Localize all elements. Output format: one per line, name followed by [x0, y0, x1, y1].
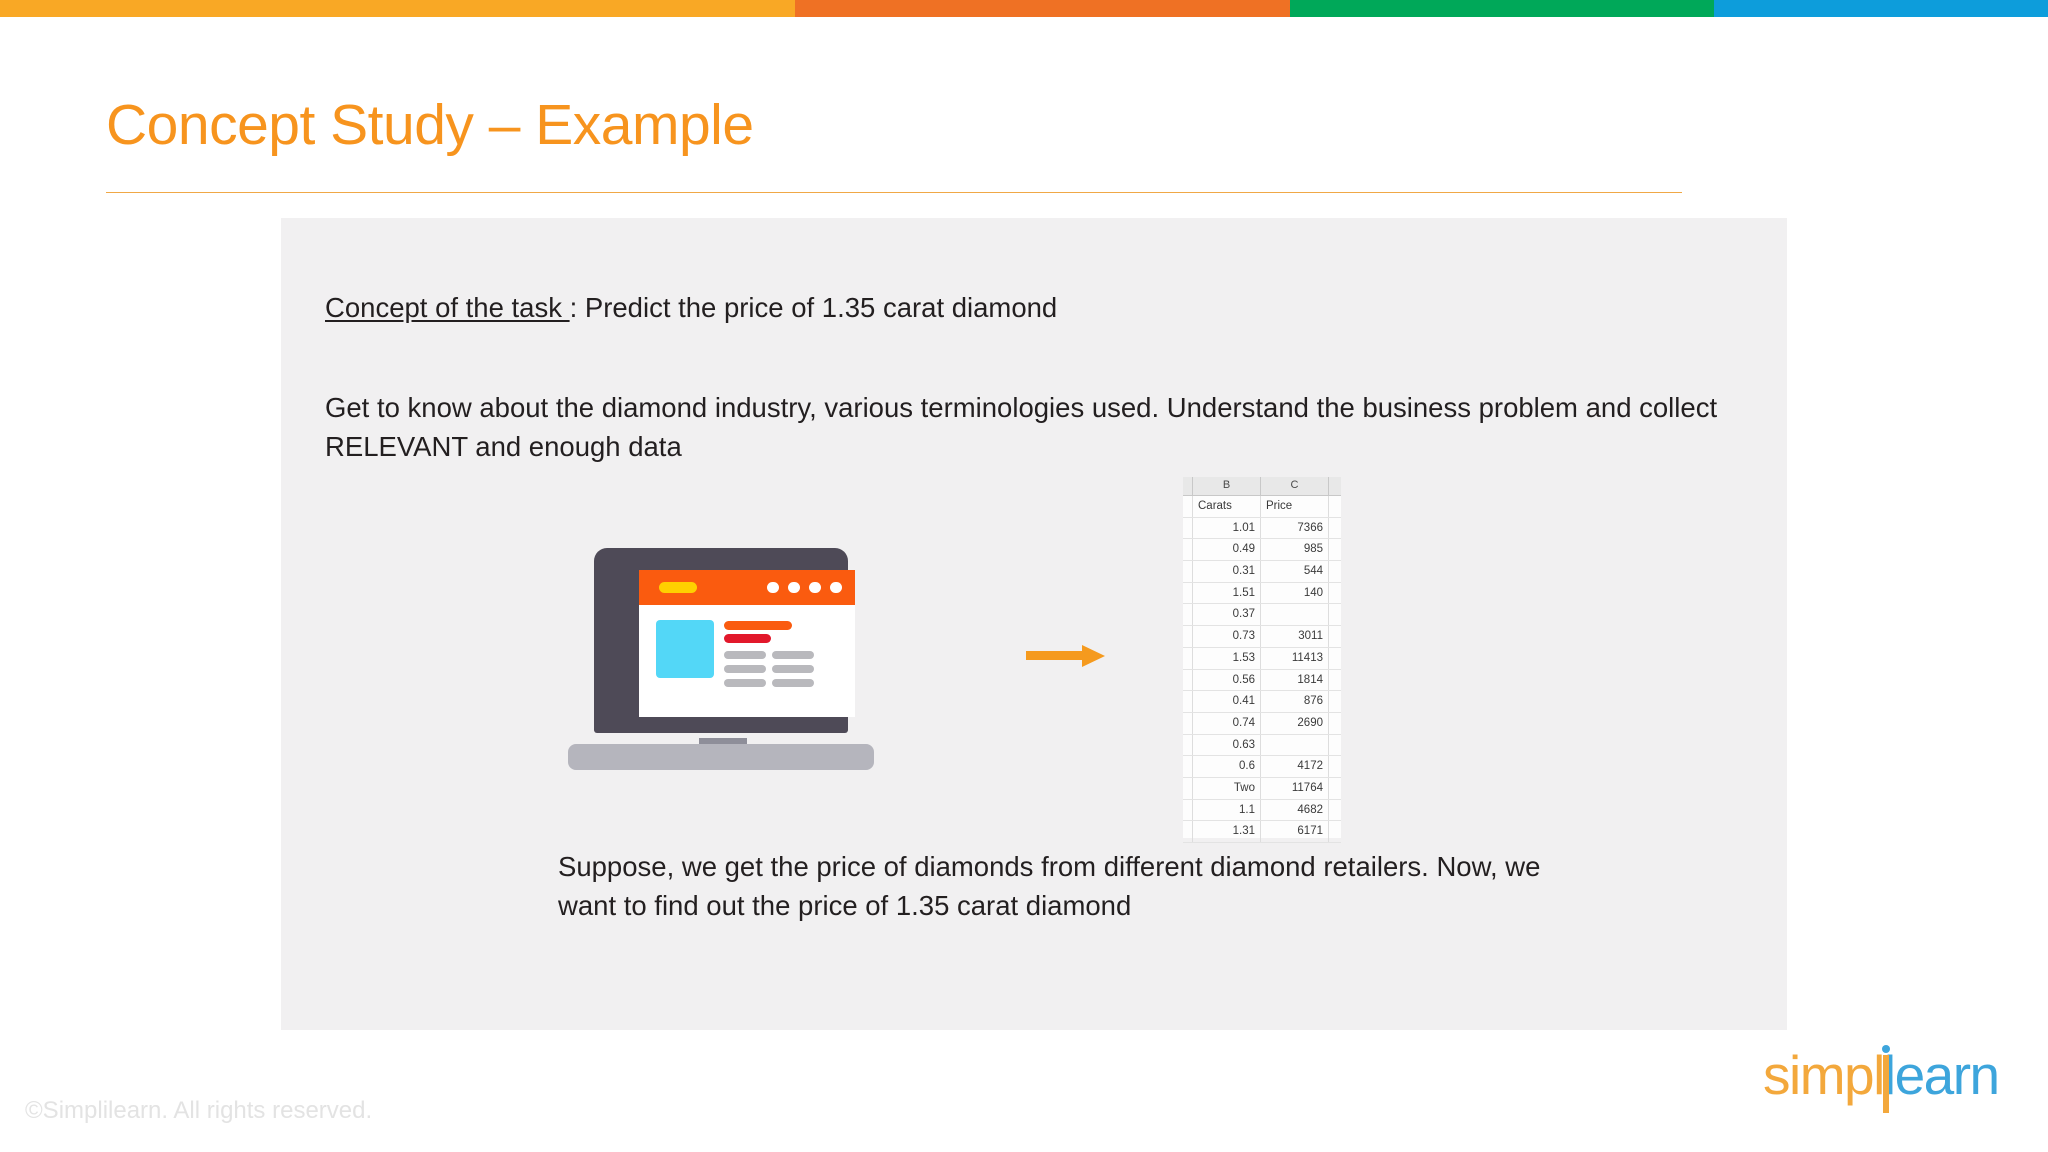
browser-pill-icon — [659, 582, 697, 593]
laptop-illustration — [568, 548, 874, 770]
spreadsheet-cell-carats: Two — [1193, 778, 1261, 799]
spreadsheet-row: 0.31544 — [1183, 561, 1341, 583]
screen-text-bar-2 — [772, 651, 814, 659]
browser-dot-icon-3 — [809, 582, 821, 593]
spreadsheet-cell-tail — [1329, 756, 1341, 777]
spreadsheet-row: 1.14682 — [1183, 800, 1341, 822]
browser-dot-icon-2 — [788, 582, 800, 593]
spreadsheet-row-gutter — [1183, 713, 1193, 734]
spreadsheet-row: 0.64172 — [1183, 756, 1341, 778]
spreadsheet-row: 0.41876 — [1183, 691, 1341, 713]
spreadsheet-cell-price: 4172 — [1261, 756, 1329, 777]
spreadsheet-cell-tail — [1329, 561, 1341, 582]
title-divider — [106, 192, 1682, 193]
spreadsheet-row-gutter — [1183, 670, 1193, 691]
body-paragraph: Get to know about the diamond industry, … — [325, 388, 1725, 466]
spreadsheet-cell-price: 140 — [1261, 583, 1329, 604]
spreadsheet-cell-tail — [1329, 496, 1341, 517]
spreadsheet-cell-carats: 1.51 — [1193, 583, 1261, 604]
spreadsheet-cell-carats: 0.41 — [1193, 691, 1261, 712]
spreadsheet-row-gutter — [1183, 518, 1193, 539]
spreadsheet-column-letter-c: C — [1261, 477, 1329, 495]
spreadsheet-cell-tail — [1329, 735, 1341, 756]
spreadsheet-row-gutter — [1183, 691, 1193, 712]
screen-heading-bar-red — [724, 634, 771, 643]
spreadsheet-column-letter-tail — [1329, 477, 1341, 495]
spreadsheet-row-gutter-header — [1183, 477, 1193, 495]
spreadsheet-cell-price: 3011 — [1261, 626, 1329, 647]
spreadsheet-row-gutter — [1183, 648, 1193, 669]
accent-segment-amber — [0, 0, 795, 17]
spreadsheet-cell-carats: 1.31 — [1193, 821, 1261, 842]
spreadsheet-cell-price: 4682 — [1261, 800, 1329, 821]
spreadsheet-cell-price: 2690 — [1261, 713, 1329, 734]
arrow-shaft — [1026, 651, 1086, 660]
spreadsheet-row: 1.51140 — [1183, 583, 1341, 605]
spreadsheet-cell-tail — [1329, 670, 1341, 691]
accent-segment-blue — [1714, 0, 2048, 17]
accent-segment-green — [1290, 0, 1714, 17]
spreadsheet-cell-tail — [1329, 821, 1341, 842]
logo-i-dot — [1882, 1045, 1890, 1053]
spreadsheet-row: 1.5311413 — [1183, 648, 1341, 670]
spreadsheet-row: 0.37 — [1183, 604, 1341, 626]
spreadsheet-cell-tail — [1329, 604, 1341, 625]
spreadsheet-row: 0.49985 — [1183, 539, 1341, 561]
spreadsheet-cell-carats: 0.6 — [1193, 756, 1261, 777]
spreadsheet-column-letter-b: B — [1193, 477, 1261, 495]
laptop-screen — [639, 570, 855, 717]
screen-text-bar-3 — [724, 665, 766, 673]
screen-image-placeholder — [656, 620, 714, 678]
spreadsheet-cell-carats: 0.31 — [1193, 561, 1261, 582]
spreadsheet-cell-carats: 0.37 — [1193, 604, 1261, 625]
spreadsheet-row-gutter — [1183, 539, 1193, 560]
spreadsheet-cell-price — [1261, 735, 1329, 756]
screen-text-bar-1 — [724, 651, 766, 659]
spreadsheet-row: Two11764 — [1183, 778, 1341, 800]
logo-wordmark: simpllearn — [1763, 1045, 1999, 1105]
spreadsheet-row-gutter — [1183, 756, 1193, 777]
simplilearn-logo: simpllearn — [1763, 1045, 2013, 1117]
top-accent-bar — [0, 0, 2048, 17]
spreadsheet-cell-price — [1261, 604, 1329, 625]
spreadsheet-cell-tail — [1329, 800, 1341, 821]
spreadsheet-cell-price: 7366 — [1261, 518, 1329, 539]
concept-of-task-line: Concept of the task : Predict the price … — [325, 288, 1057, 327]
screen-text-bar-5 — [724, 679, 766, 687]
spreadsheet-row: 1.316171 — [1183, 821, 1341, 843]
spreadsheet-cell-price: 11413 — [1261, 648, 1329, 669]
spreadsheet-row-gutter — [1183, 561, 1193, 582]
spreadsheet-cell-carats: 0.73 — [1193, 626, 1261, 647]
spreadsheet-cell-price: 544 — [1261, 561, 1329, 582]
spreadsheet-body: 1.0173660.499850.315441.511400.370.73301… — [1183, 518, 1341, 843]
spreadsheet-row: 0.733011 — [1183, 626, 1341, 648]
logo-i-stem — [1883, 1055, 1889, 1113]
spreadsheet-row: 0.561814 — [1183, 670, 1341, 692]
laptop-lid — [594, 548, 848, 733]
spreadsheet-cell-tail — [1329, 691, 1341, 712]
spreadsheet-header-carats: Carats — [1193, 496, 1261, 517]
logo-text-simpl: simpl — [1763, 1044, 1884, 1106]
screen-text-bar-6 — [772, 679, 814, 687]
spreadsheet-column-headers: B C — [1183, 477, 1341, 496]
spreadsheet-cell-tail — [1329, 778, 1341, 799]
spreadsheet-row: 0.742690 — [1183, 713, 1341, 735]
spreadsheet-cell-tail — [1329, 648, 1341, 669]
browser-dot-icon-4 — [830, 582, 842, 593]
spreadsheet-header-row: Carats Price — [1183, 496, 1341, 518]
spreadsheet-cell-price: 6171 — [1261, 821, 1329, 842]
spreadsheet-row-gutter — [1183, 800, 1193, 821]
arrow-head — [1082, 645, 1105, 667]
spreadsheet-cell-tail — [1329, 626, 1341, 647]
spreadsheet-row-gutter — [1183, 583, 1193, 604]
spreadsheet-cell-carats: 0.49 — [1193, 539, 1261, 560]
spreadsheet-cell-price: 876 — [1261, 691, 1329, 712]
browser-dot-icon-1 — [767, 582, 779, 593]
spreadsheet-row-gutter — [1183, 604, 1193, 625]
accent-segment-orange — [795, 0, 1290, 17]
spreadsheet-cell-tail — [1329, 518, 1341, 539]
spreadsheet-cell-price: 985 — [1261, 539, 1329, 560]
spreadsheet-row-gutter — [1183, 778, 1193, 799]
screen-text-bar-4 — [772, 665, 814, 673]
spreadsheet-row-gutter — [1183, 735, 1193, 756]
spreadsheet-row: 0.63 — [1183, 735, 1341, 757]
spreadsheet-cell-carats: 1.1 — [1193, 800, 1261, 821]
spreadsheet-cell-carats: 0.56 — [1193, 670, 1261, 691]
spreadsheet-cell-carats: 1.01 — [1193, 518, 1261, 539]
spreadsheet-row: 1.017366 — [1183, 518, 1341, 540]
spreadsheet-cell-carats: 1.53 — [1193, 648, 1261, 669]
concept-of-task-label: Concept of the task — [325, 292, 570, 323]
logo-text-learn: learn — [1884, 1044, 1999, 1106]
spreadsheet-cell-price: 1814 — [1261, 670, 1329, 691]
right-arrow-icon — [1026, 645, 1106, 665]
spreadsheet-row-gutter — [1183, 496, 1193, 517]
spreadsheet-cell-tail — [1329, 713, 1341, 734]
concept-of-task-value: : Predict the price of 1.35 carat diamon… — [570, 292, 1058, 323]
copyright-notice: ©Simplilearn. All rights reserved. — [25, 1097, 372, 1125]
spreadsheet-screenshot: B C Carats Price 1.0173660.499850.315441… — [1183, 477, 1341, 838]
screen-heading-bar-orange — [724, 621, 792, 630]
spreadsheet-cell-price: 11764 — [1261, 778, 1329, 799]
spreadsheet-row-gutter — [1183, 626, 1193, 647]
laptop-base — [568, 744, 874, 770]
spreadsheet-cell-carats: 0.74 — [1193, 713, 1261, 734]
illustration-caption: Suppose, we get the price of diamonds fr… — [558, 847, 1558, 925]
spreadsheet-cell-tail — [1329, 583, 1341, 604]
spreadsheet-row-gutter — [1183, 821, 1193, 842]
spreadsheet-header-price: Price — [1261, 496, 1329, 517]
spreadsheet-cell-carats: 0.63 — [1193, 735, 1261, 756]
page-title: Concept Study – Example — [106, 92, 754, 158]
spreadsheet-cell-tail — [1329, 539, 1341, 560]
